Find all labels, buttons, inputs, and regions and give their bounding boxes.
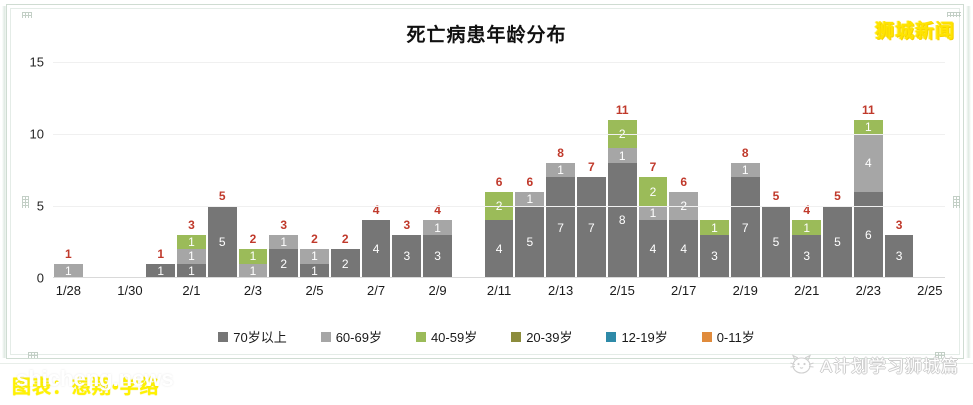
bar-stack[interactable]: 11 [239,249,268,278]
bar-total-label: 3 [884,218,915,232]
gridline [53,134,945,135]
bar-segment[interactable]: 4 [362,220,391,278]
x-axis-slot: 2/13 [545,283,576,305]
bar-slot[interactable]: 431 [422,62,453,278]
bar-stack[interactable]: 31 [792,220,821,278]
x-axis-slot: 2/9 [422,283,453,305]
x-axis: 1/281/302/12/32/52/72/92/112/132/152/172… [53,283,945,305]
legend-item[interactable]: 12-19岁 [606,327,667,346]
bar-segment-value: 1 [742,164,749,176]
page-title: 死亡病患年龄分布 [0,20,973,47]
bar-stack[interactable]: 1 [54,264,83,278]
bar-total-label: 3 [176,218,207,232]
bar-segment[interactable]: 3 [423,235,452,278]
bar-segment-value: 1 [188,250,195,262]
legend-item-label: 12-19岁 [621,327,667,346]
bar-segment[interactable]: 4 [485,220,514,278]
bar-segment[interactable]: 8 [608,163,637,278]
bar-segment[interactable]: 5 [762,206,791,278]
chart-legend: 70岁以上60-69岁40-59岁20-39岁12-19岁0-11岁 [0,327,973,346]
watermark-bottom-right-label: A计划学习狮城篇 [821,352,959,377]
gridline [53,62,945,63]
bar-total-label: 6 [514,175,545,189]
bar-segment-value: 1 [157,265,164,277]
x-axis-slot: 2/25 [914,283,945,305]
x-axis-slot: 2/1 [176,283,207,305]
bar-slot[interactable]: 642 [484,62,515,278]
bar-slot[interactable]: 871 [730,62,761,278]
legend-item-label: 40-59岁 [431,327,477,346]
bar-segment-value: 4 [865,157,872,169]
bar-series-container: 1111311155211321211224433431642651871771… [53,62,945,278]
bar-slot[interactable]: 211 [299,62,330,278]
bar-slot[interactable] [914,62,945,278]
x-axis-slot [391,283,422,305]
bar-slot[interactable]: 55 [207,62,238,278]
cat-face-icon [789,354,815,376]
x-axis-slot: 2/7 [361,283,392,305]
bar-slot[interactable] [115,62,146,278]
bar-segment-value: 5 [773,236,780,248]
bar-segment[interactable]: 5 [823,206,852,278]
bar-segment[interactable]: 1 [239,264,268,278]
bar-segment[interactable]: 3 [792,235,821,278]
legend-item[interactable]: 20-39岁 [511,327,572,346]
bar-slot[interactable]: 321 [268,62,299,278]
legend-item[interactable]: 60-69岁 [321,327,382,346]
bar-segment[interactable]: 1 [269,235,298,249]
bar-segment-value: 1 [311,265,318,277]
bar-total-label: 7 [638,160,669,174]
bar-total-label: 2 [330,232,361,246]
plot-area: 1111311155211321211224433431642651871771… [53,62,945,278]
bar-segment[interactable]: 7 [731,177,760,278]
x-axis-slot: 1/28 [53,283,84,305]
bar-segment[interactable]: 1 [239,249,268,263]
bar-segment-value: 3 [711,250,718,262]
bar-segment-value: 1 [280,236,287,248]
legend-item[interactable]: 0-11岁 [702,327,755,346]
x-axis-baseline [53,277,945,278]
bar-segment-value: 2 [342,258,349,270]
x-axis-slot [330,283,361,305]
bar-total-label: 3 [391,218,422,232]
bar-slot[interactable]: 33 [884,62,915,278]
bar-segment-value: 7 [557,222,564,234]
bar-segment-value: 1 [65,265,72,277]
frame-grip-bottom-left [28,352,38,358]
bar-slot[interactable] [453,62,484,278]
bar-slot[interactable]: 11812 [607,62,638,278]
bar-segment[interactable]: 1 [700,220,729,234]
x-axis-tick-label: 1/30 [117,283,142,298]
bar-segment-value: 1 [527,193,534,205]
bar-segment[interactable]: 1 [546,163,575,177]
x-axis-slot [207,283,238,305]
x-axis-slot: 2/17 [668,283,699,305]
x-axis-slot [145,283,176,305]
legend-swatch-20-39 [511,332,521,342]
bar-slot[interactable]: 22 [330,62,361,278]
x-axis-slot: 2/15 [607,283,638,305]
bar-slot[interactable]: 33 [391,62,422,278]
x-axis-slot [822,283,853,305]
x-axis-slot: 1/30 [115,283,146,305]
x-axis-slot [638,283,669,305]
plot-area-wrapper: 1111311155211321211224433431642651871771… [53,62,945,278]
x-axis-tick-label: 2/17 [671,283,696,298]
bar-segment-value: 1 [865,121,872,133]
bar-segment-value: 5 [219,236,226,248]
y-axis-tick: 0 [37,271,44,286]
watermark-top-right: 狮城新闻 [875,16,955,43]
x-axis-tick-label: 2/23 [856,283,881,298]
bar-slot[interactable] [84,62,115,278]
bar-segment[interactable]: 1 [177,249,206,263]
bar-total-label: 5 [761,189,792,203]
bar-segment-value: 1 [250,250,257,262]
bar-total-label: 5 [207,189,238,203]
bar-stack[interactable]: 641 [854,120,883,278]
x-axis-slot [884,283,915,305]
bar-total-label: 3 [268,218,299,232]
frame-rail-right [966,6,971,358]
x-axis-tick-label: 2/13 [548,283,573,298]
bar-segment[interactable]: 4 [639,220,668,278]
bar-segment[interactable]: 3 [392,235,421,278]
x-axis-tick-label: 2/3 [244,283,262,298]
x-axis-slot: 2/5 [299,283,330,305]
bar-segment-value: 2 [650,186,657,198]
bar-segment-value: 3 [803,250,810,262]
bar-stack[interactable]: 3 [392,235,421,278]
legend-item-label: 60-69岁 [336,327,382,346]
bar-segment-value: 1 [311,250,318,262]
bar-total-label: 5 [822,189,853,203]
bar-segment-value: 2 [280,258,287,270]
bar-segment[interactable]: 1 [608,148,637,162]
bar-segment-value: 3 [403,250,410,262]
x-axis-slot [84,283,115,305]
x-axis-slot: 2/21 [791,283,822,305]
watermark-bottom-left-site: shicheng.news [16,366,174,392]
legend-item[interactable]: 70岁以上 [218,327,286,346]
legend-swatch-12-19 [606,332,616,342]
bar-segment[interactable]: 1 [639,206,668,220]
x-axis-tick-label: 2/7 [367,283,385,298]
x-axis-slot: 2/3 [238,283,269,305]
bar-segment[interactable]: 1 [300,249,329,263]
x-axis-tick-label: 2/1 [182,283,200,298]
x-axis-tick-label: 2/25 [917,283,942,298]
legend-item-label: 20-39岁 [526,327,572,346]
frame-grip-mid-left [22,196,29,208]
bar-total-label: 8 [730,146,761,160]
bar-segment-value: 4 [496,243,503,255]
bar-segment[interactable]: 1 [792,220,821,234]
bar-total-label: 1 [145,247,176,261]
x-axis-tick-label: 1/28 [56,283,81,298]
x-axis-tick-label: 2/9 [429,283,447,298]
bar-segment[interactable]: 7 [577,177,606,278]
bar-segment[interactable]: 1 [423,220,452,234]
bar-segment[interactable]: 4 [669,220,698,278]
gridline [53,206,945,207]
bar-segment-value: 4 [373,243,380,255]
legend-swatch-0-11 [702,332,712,342]
bar-segment[interactable]: 3 [700,235,729,278]
bar-segment-value: 1 [434,222,441,234]
bar-segment-value: 1 [188,236,195,248]
bar-segment[interactable]: 2 [639,177,668,206]
legend-swatch-60-69 [321,332,331,342]
bar-stack[interactable]: 71 [731,163,760,278]
x-axis-slot [453,283,484,305]
bar-slot[interactable]: 642 [668,62,699,278]
bar-segment[interactable]: 1 [177,264,206,278]
bar-stack[interactable]: 31 [423,220,452,278]
bar-segment-value: 7 [742,222,749,234]
bar-total-label: 1 [53,247,84,261]
bar-total-label: 6 [484,175,515,189]
legend-item-label: 70岁以上 [233,327,286,346]
bar-segment-value: 1 [188,265,195,277]
bar-segment[interactable]: 2 [269,249,298,278]
bar-segment-value: 5 [834,236,841,248]
x-axis-tick-label: 2/21 [794,283,819,298]
bar-slot[interactable]: 431 [791,62,822,278]
bar-segment-value: 1 [711,222,718,234]
x-axis-slot [268,283,299,305]
x-axis-tick-label: 2/11 [487,283,511,298]
watermark-bottom-right: A计划学习狮城篇 [789,352,959,377]
bar-stack[interactable]: 21 [269,235,298,278]
legend-swatch-70plus [218,332,228,342]
bar-segment-value: 8 [619,214,626,226]
bar-stack[interactable]: 3 [885,235,914,278]
frame-grip-mid-right [953,196,960,208]
bar-slot[interactable]: 331 [699,62,730,278]
bar-slot[interactable]: 55 [822,62,853,278]
bar-segment[interactable]: 1 [146,264,175,278]
legend-item[interactable]: 40-59岁 [416,327,477,346]
bar-segment-value: 6 [865,229,872,241]
legend-item-label: 0-11岁 [717,327,755,346]
bar-stack[interactable]: 812 [608,120,637,278]
bar-segment-value: 1 [557,164,564,176]
x-axis-slot: 2/11 [484,283,515,305]
legend-swatch-40-59 [416,332,426,342]
bar-segment[interactable]: 1 [515,192,544,206]
bar-segment-value: 4 [680,243,687,255]
bar-segment-value: 1 [650,207,657,219]
bar-segment-value: 7 [588,222,595,234]
bar-segment[interactable]: 7 [546,177,575,278]
y-axis-tick: 5 [37,199,44,214]
bar-segment[interactable]: 5 [208,206,237,278]
bar-total-label: 11 [853,103,884,117]
bar-segment-value: 3 [434,250,441,262]
bar-slot[interactable]: 55 [761,62,792,278]
x-axis-slot: 2/23 [853,283,884,305]
bar-segment-value: 4 [650,243,657,255]
x-axis-slot [761,283,792,305]
bar-slot[interactable]: 651 [514,62,545,278]
bar-slot[interactable]: 3111 [176,62,207,278]
bar-segment[interactable]: 3 [885,235,914,278]
bar-total-label: 6 [668,175,699,189]
bar-stack[interactable]: 5 [208,206,237,278]
bar-stack[interactable]: 412 [639,177,668,278]
bar-slot[interactable]: 11 [145,62,176,278]
bar-stack[interactable]: 11 [300,249,329,278]
x-axis-tick-label: 2/19 [733,283,758,298]
bar-stack[interactable]: 1 [146,264,175,278]
y-axis-tick: 10 [30,127,44,142]
bar-stack[interactable]: 111 [177,235,206,278]
bar-segment-value: 1 [803,222,810,234]
bar-slot[interactable]: 11 [53,62,84,278]
bar-total-label: 2 [299,232,330,246]
bar-segment[interactable]: 2 [331,249,360,278]
bar-slot[interactable]: 7412 [638,62,669,278]
bar-stack[interactable]: 71 [546,163,575,278]
bar-slot[interactable]: 871 [545,62,576,278]
bar-stack[interactable]: 2 [331,249,360,278]
x-axis-tick-label: 2/15 [610,283,635,298]
bar-segment-value: 3 [896,250,903,262]
bar-segment[interactable]: 1 [54,264,83,278]
bar-segment-value: 1 [250,265,257,277]
bar-stack[interactable]: 5 [762,206,791,278]
bar-segment[interactable]: 4 [854,134,883,192]
bar-slot[interactable]: 44 [361,62,392,278]
bar-segment[interactable]: 1 [300,264,329,278]
bar-segment[interactable]: 1 [177,235,206,249]
bar-segment[interactable]: 5 [515,206,544,278]
bar-total-label: 11 [607,103,638,117]
bar-stack[interactable]: 31 [700,220,729,278]
x-axis-slot [576,283,607,305]
bar-segment[interactable]: 1 [854,120,883,134]
bar-slot[interactable]: 11641 [853,62,884,278]
frame-grip-top-left [22,12,32,18]
bar-total-label: 8 [545,146,576,160]
bar-stack[interactable]: 7 [577,177,606,278]
bar-segment-value: 5 [527,236,534,248]
x-axis-slot [699,283,730,305]
bar-total-label: 7 [576,160,607,174]
bar-slot[interactable]: 77 [576,62,607,278]
bar-total-label: 2 [238,232,269,246]
chart-screenshot: 死亡病患年龄分布 狮城新闻 11113111552113212112244334… [0,0,973,405]
bar-segment[interactable]: 1 [731,163,760,177]
bar-segment-value: 1 [619,150,626,162]
bar-slot[interactable]: 211 [238,62,269,278]
y-axis-tick: 15 [30,55,44,70]
bar-stack[interactable]: 5 [823,206,852,278]
x-axis-slot: 2/19 [730,283,761,305]
x-axis-slot [514,283,545,305]
x-axis-tick-label: 2/5 [305,283,323,298]
bar-stack[interactable]: 4 [362,220,391,278]
